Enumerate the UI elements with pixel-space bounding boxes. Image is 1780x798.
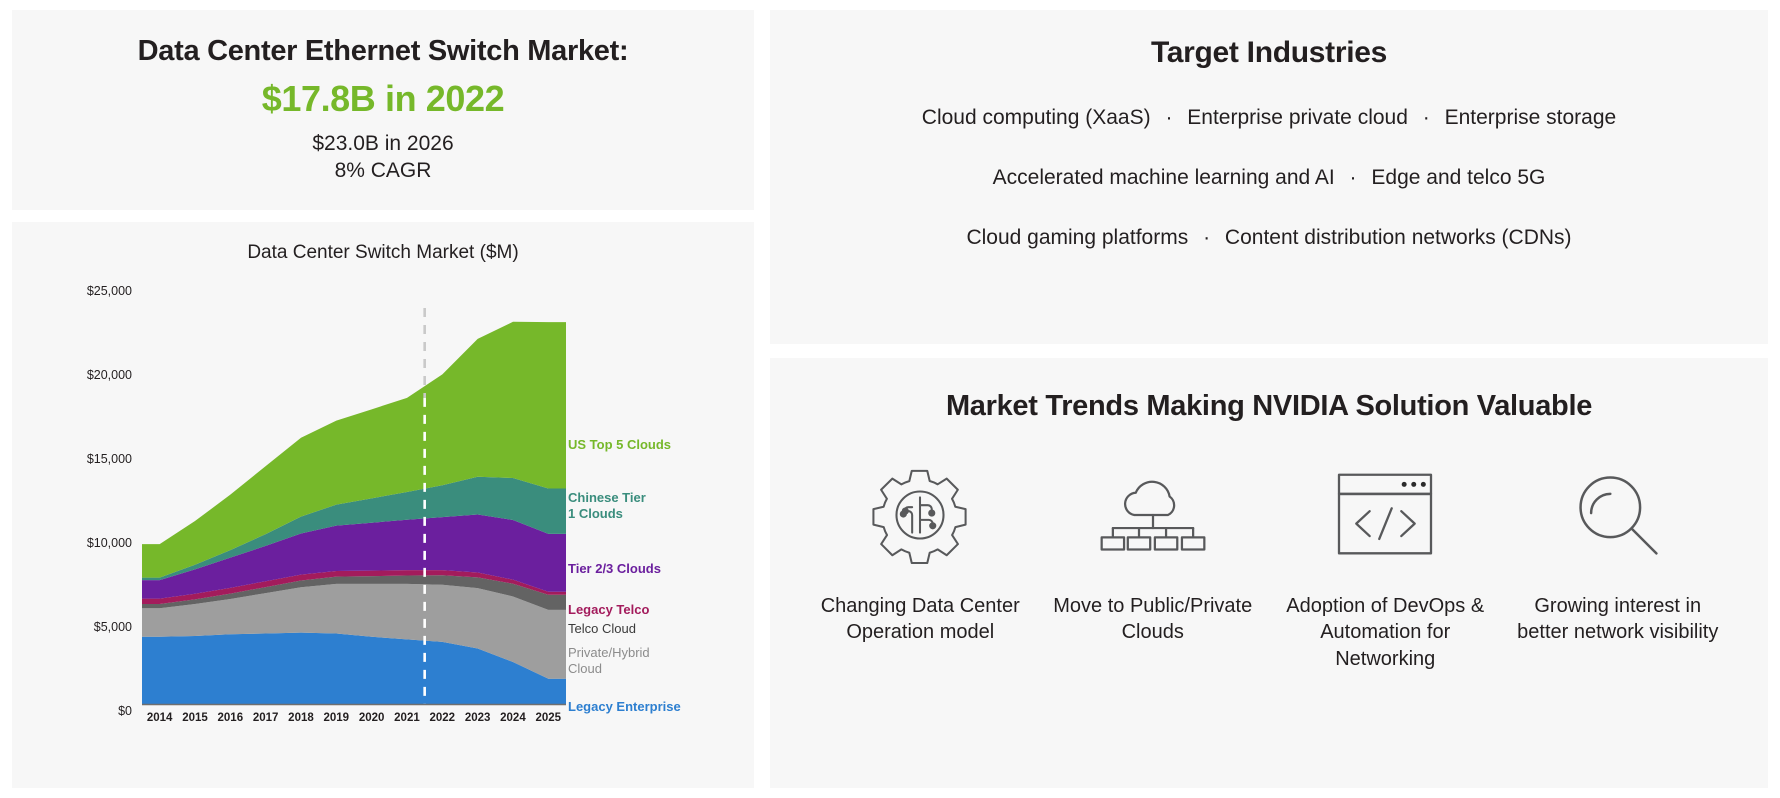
industry-item: Enterprise private cloud xyxy=(1187,106,1408,129)
market-size-panel: Data Center Ethernet Switch Market: $17.… xyxy=(12,10,754,210)
legend-label: Tier 2/3 Clouds xyxy=(568,561,661,576)
industry-row: Cloud computing (XaaS) · Enterprise priv… xyxy=(770,106,1768,130)
x-tick: 2025 xyxy=(531,712,566,736)
x-tick: 2016 xyxy=(213,712,248,736)
magnifier-icon xyxy=(1570,463,1666,567)
target-industries-title: Target Industries xyxy=(770,10,1768,70)
legend-label: Telco Cloud xyxy=(568,621,636,636)
x-axis: 2014 2015 2016 2017 2018 2019 2020 2021 … xyxy=(142,712,566,736)
y-tick-10000: $10,000 xyxy=(87,536,132,550)
industry-row: Cloud gaming platforms · Content distrib… xyxy=(770,226,1768,250)
y-axis: $25,000 $20,000 $15,000 $10,000 $5,000 $… xyxy=(70,284,132,704)
legend-label: US Top 5 Clouds xyxy=(568,437,671,452)
trend-item-move-to-public-private-clouds: Move to Public/Private Clouds xyxy=(1045,463,1260,646)
legend-label-line2: Cloud xyxy=(568,661,602,676)
x-tick: 2015 xyxy=(177,712,212,736)
x-tick: 2021 xyxy=(389,712,424,736)
y-tick-25000: $25,000 xyxy=(87,284,132,298)
market-trends-panel: Market Trends Making NVIDIA Solution Val… xyxy=(770,358,1768,788)
industry-item: Accelerated machine learning and AI xyxy=(993,166,1335,189)
market-trends-title: Market Trends Making NVIDIA Solution Val… xyxy=(770,358,1768,423)
gear-circuit-icon xyxy=(871,463,969,567)
x-tick: 2024 xyxy=(495,712,530,736)
market-size-subtext: $23.0B in 2026 8% CAGR xyxy=(312,131,453,184)
x-tick: 2023 xyxy=(460,712,495,736)
separator-dot: · xyxy=(1414,106,1439,129)
x-tick: 2022 xyxy=(425,712,460,736)
y-tick-15000: $15,000 xyxy=(87,452,132,466)
chart-title: Data Center Switch Market ($M) xyxy=(12,222,754,264)
cloud-network-icon xyxy=(1097,463,1209,567)
legend-label-line1: Private/Hybrid xyxy=(568,645,650,660)
legend-item-telco-cloud: Telco Cloud xyxy=(568,621,636,637)
market-trends-list: Changing Data Center Operation model xyxy=(770,423,1768,672)
cagr-value: 8% CAGR xyxy=(312,158,453,184)
legend-item-legacy-enterprise: Legacy Enterprise xyxy=(568,699,681,715)
trend-item-adoption-of-devops: Adoption of DevOps & Automation for Netw… xyxy=(1278,463,1493,672)
industry-item: Enterprise storage xyxy=(1445,106,1617,129)
x-tick: 2017 xyxy=(248,712,283,736)
industry-item: Edge and telco 5G xyxy=(1371,166,1545,189)
legend-label: Legacy Enterprise xyxy=(568,699,681,714)
separator-dot: · xyxy=(1194,226,1219,249)
trend-caption: Growing interest in better network visib… xyxy=(1510,593,1725,646)
target-industries-panel: Target Industries Cloud computing (XaaS)… xyxy=(770,10,1768,344)
market-chart-panel: Data Center Switch Market ($M) $25,000 $… xyxy=(12,222,754,788)
trend-caption: Adoption of DevOps & Automation for Netw… xyxy=(1278,593,1493,672)
industry-item: Cloud gaming platforms xyxy=(966,226,1188,249)
y-tick-5000: $5,000 xyxy=(94,620,132,634)
left-column: Data Center Ethernet Switch Market: $17.… xyxy=(12,10,754,788)
x-tick: 2014 xyxy=(142,712,177,736)
industry-row: Accelerated machine learning and AI · Ed… xyxy=(770,166,1768,190)
separator-dot: · xyxy=(1156,106,1181,129)
separator-dot: · xyxy=(1341,166,1366,189)
legend-item-tier-2-3-clouds: Tier 2/3 Clouds xyxy=(568,561,661,577)
industry-item: Cloud computing (XaaS) xyxy=(922,106,1151,129)
legend-item-private-hybrid-cloud: Private/Hybrid Cloud xyxy=(568,645,650,678)
right-column: Target Industries Cloud computing (XaaS)… xyxy=(770,10,1768,788)
market-size-headline: $17.8B in 2022 xyxy=(262,78,505,119)
page-title: Data Center Ethernet Switch Market: xyxy=(138,36,629,68)
chart-plot-area: $25,000 $20,000 $15,000 $10,000 $5,000 $… xyxy=(12,264,754,764)
x-tick: 2019 xyxy=(319,712,354,736)
legend-label-line1: Chinese Tier xyxy=(568,490,646,505)
chart-legend: US Top 5 Clouds Chinese Tier 1 Clouds Ti… xyxy=(568,284,748,714)
trend-caption: Changing Data Center Operation model xyxy=(813,593,1028,646)
legend-item-chinese-tier-1-clouds: Chinese Tier 1 Clouds xyxy=(568,490,646,523)
x-tick: 2018 xyxy=(283,712,318,736)
forecast-value: $23.0B in 2026 xyxy=(312,131,453,157)
code-window-icon xyxy=(1335,463,1435,567)
legend-label: Legacy Telco xyxy=(568,602,649,617)
y-tick-20000: $20,000 xyxy=(87,368,132,382)
trend-item-growing-interest-network-visibility: Growing interest in better network visib… xyxy=(1510,463,1725,646)
y-tick-0: $0 xyxy=(118,704,132,718)
industry-item: Content distribution networks (CDNs) xyxy=(1225,226,1572,249)
target-industries-list: Cloud computing (XaaS) · Enterprise priv… xyxy=(770,106,1768,250)
trend-item-changing-data-center-operation: Changing Data Center Operation model xyxy=(813,463,1028,646)
trend-caption: Move to Public/Private Clouds xyxy=(1045,593,1260,646)
legend-label-line2: 1 Clouds xyxy=(568,506,623,521)
x-tick: 2020 xyxy=(354,712,389,736)
legend-item-us-top-5-clouds: US Top 5 Clouds xyxy=(568,437,671,453)
legend-item-legacy-telco: Legacy Telco xyxy=(568,602,649,618)
slide-root: Data Center Ethernet Switch Market: $17.… xyxy=(0,0,1780,798)
